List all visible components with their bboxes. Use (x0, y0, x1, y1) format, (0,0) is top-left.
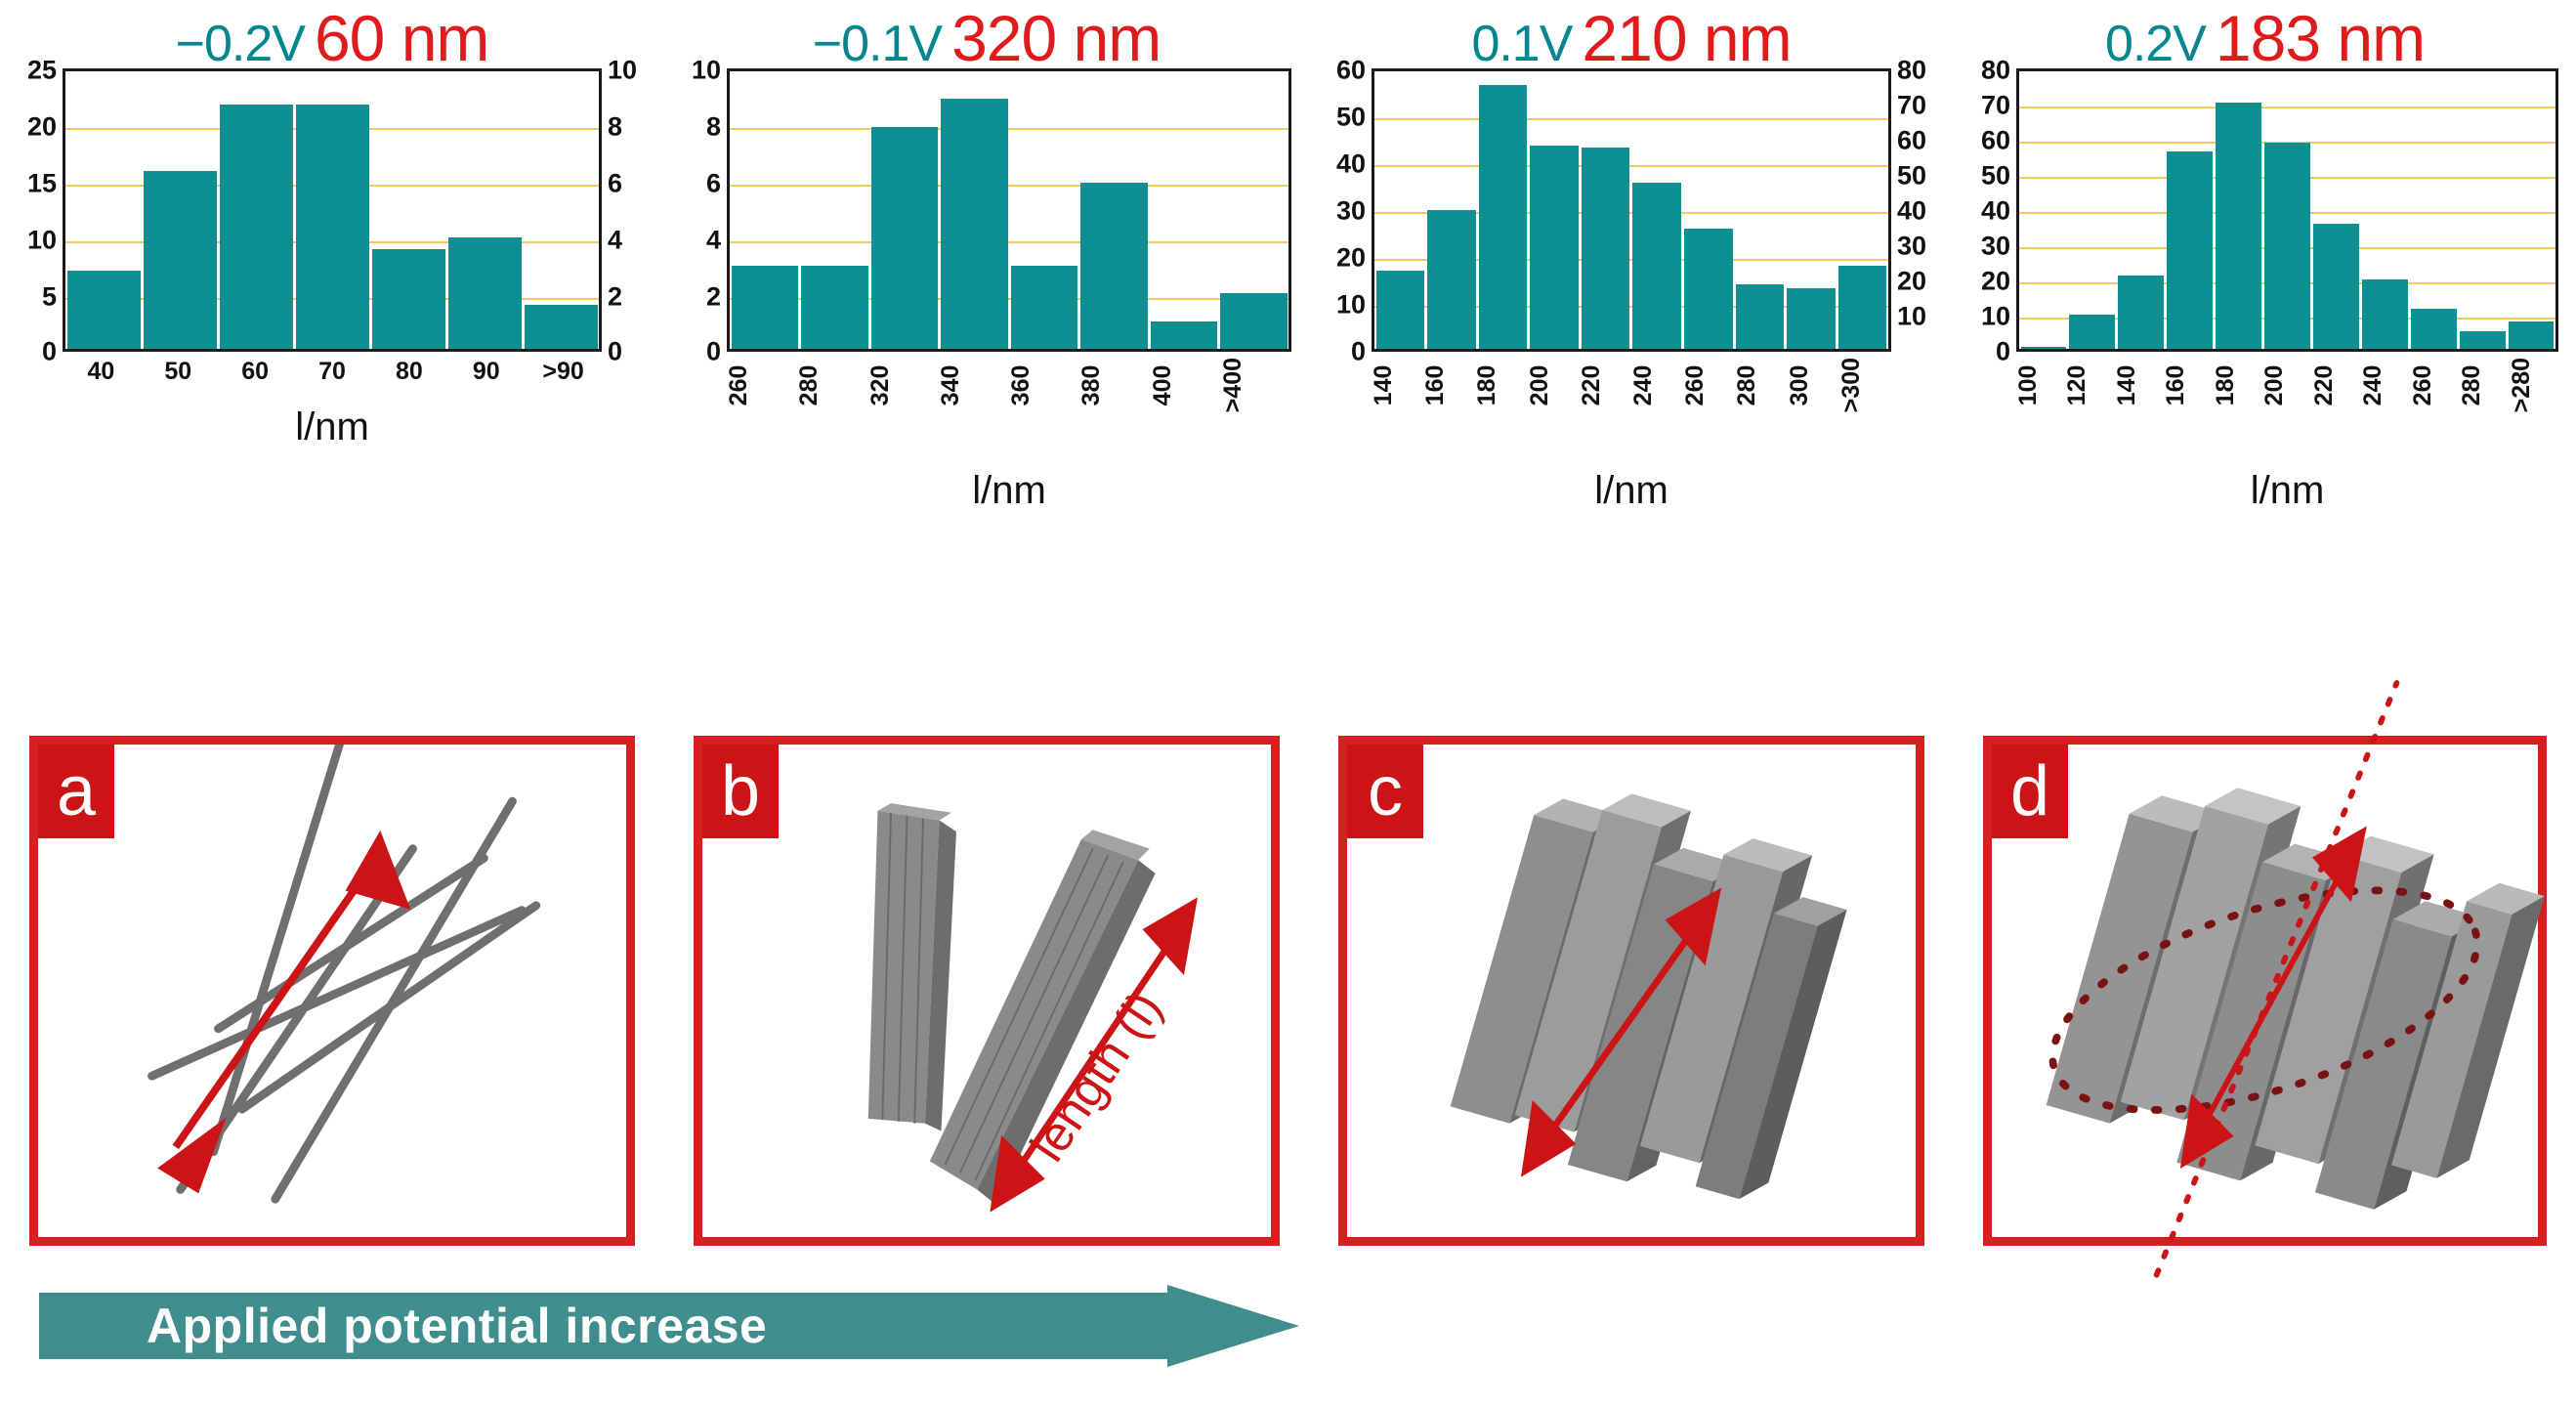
axis-tick: 80 (1897, 58, 1926, 84)
x-tick-label: 260 (2411, 358, 2460, 412)
chart-1-right-axis: 10 8 6 4 2 0 (602, 68, 664, 352)
chart-4-bars (2019, 71, 2555, 349)
x-tick-label: 360 (1009, 358, 1079, 412)
histogram-bar (2216, 103, 2261, 349)
axis-tick: 50 (1981, 163, 2010, 190)
histogram-bar (1530, 146, 1579, 349)
chart-1-bars (65, 71, 599, 349)
chart-2-size-label: 320 nm (951, 2, 1161, 74)
axis-tick: 0 (608, 339, 622, 365)
histogram-bar (2118, 276, 2164, 349)
x-tick-label: 140 (1372, 358, 1423, 412)
chart-2-xlabels: 260280320340360380400>400 (727, 358, 1291, 412)
rod-left (868, 803, 956, 1130)
x-tick-label: 220 (2312, 358, 2361, 412)
histogram-bar (1376, 271, 1425, 349)
banner-label: Applied potential increase (147, 1285, 767, 1367)
x-tick-label: 160 (2164, 358, 2213, 412)
axis-tick: 4 (608, 228, 622, 254)
histogram-bar (144, 171, 217, 349)
histogram-bar (372, 249, 445, 349)
x-tick-label: 260 (1683, 358, 1735, 412)
schematic-panel-b: b (664, 728, 1309, 1275)
chart-3-bars (1374, 71, 1888, 349)
histogram-panel-1: −0.2V60 nm 25 20 15 10 5 0 10 8 6 4 2 0 (0, 0, 664, 723)
axis-tick: 40 (1981, 198, 2010, 225)
histogram-bar (2313, 224, 2359, 349)
x-tick-label: 280 (1735, 358, 1787, 412)
x-tick-label: 400 (1151, 358, 1221, 412)
histogram-bar (2509, 321, 2555, 349)
axis-tick: 0 (1351, 339, 1366, 365)
panel-b-tag: b (702, 745, 779, 838)
histogram-bar (1684, 229, 1733, 349)
panel-a-tag: a (38, 745, 114, 838)
histogram-bar (1838, 266, 1887, 349)
chart-3-title: 0.1V210 nm (1309, 6, 1954, 70)
chart-1-title: −0.2V60 nm (0, 6, 664, 70)
bundle-illustration (1347, 745, 1916, 1237)
histogram-panel-3: 0.1V210 nm 60 50 40 30 20 10 0 80 70 60 … (1309, 0, 1954, 723)
histogram-bar (2021, 347, 2067, 349)
chart-3-right-axis: 80 70 60 50 40 30 20 10 (1891, 68, 1954, 352)
schematic-panel-a: a (0, 728, 664, 1275)
x-tick-label: 70 (294, 358, 371, 386)
histogram-bar (67, 271, 141, 349)
histogram-bar (296, 105, 369, 349)
schematic-panel-c: c (1309, 728, 1954, 1275)
x-tick-label: 80 (370, 358, 447, 386)
chart-3-xlabels: 140160180200220240260280300>300 (1372, 358, 1891, 412)
x-tick-label: 200 (1528, 358, 1580, 412)
histogram-bar (801, 266, 868, 349)
axis-tick: 2 (608, 284, 622, 311)
x-tick-label: 50 (140, 358, 217, 386)
chart-4-voltage-label: 0.2V (2105, 16, 2206, 72)
axis-tick: 30 (1336, 198, 1366, 225)
axis-tick: 25 (27, 58, 57, 84)
histogram-bar (1582, 148, 1630, 349)
x-tick-label: 40 (63, 358, 140, 386)
axis-tick: 80 (1981, 58, 2010, 84)
chart-1-left-axis: 25 20 15 10 5 0 (0, 68, 63, 352)
x-tick-label: 240 (2361, 358, 2410, 412)
panel-a-box: a (29, 736, 635, 1246)
x-tick-label: 340 (939, 358, 1009, 412)
x-tick-label: 60 (217, 358, 294, 386)
chart-1-voltage-label: −0.2V (176, 16, 305, 72)
axis-tick: 0 (706, 339, 721, 365)
x-tick-label: >90 (525, 358, 602, 386)
panel-b-box: b (694, 736, 1280, 1246)
x-tick-label: >400 (1221, 358, 1291, 412)
histogram-bar (2069, 315, 2115, 350)
histogram-bar (1787, 288, 1836, 349)
histogram-panel-2: −0.1V320 nm 10 8 6 4 2 0 26 (664, 0, 1309, 723)
axis-tick: 0 (1996, 339, 2010, 365)
axis-tick: 40 (1897, 198, 1926, 225)
chart-4-left-axis: 80 70 60 50 40 30 20 10 0 (1954, 68, 2016, 352)
x-tick-label: 160 (1423, 358, 1475, 412)
axis-tick: 20 (1336, 245, 1366, 272)
axis-tick: 50 (1897, 163, 1926, 190)
x-tick-label: 280 (2460, 358, 2509, 412)
axis-tick: 30 (1981, 234, 2010, 260)
axis-tick: 10 (27, 228, 57, 254)
nanorods-illustration: length (l) (702, 745, 1271, 1237)
x-tick-label: 240 (1631, 358, 1683, 412)
chart-2-title: −0.1V320 nm (664, 6, 1309, 70)
x-tick-label: 320 (868, 358, 939, 412)
histogram-bar (525, 305, 598, 349)
axis-tick: 6 (608, 171, 622, 197)
axis-tick: 30 (1897, 234, 1926, 260)
axis-tick: 15 (27, 171, 57, 197)
histogram-bar (2264, 143, 2310, 349)
chart-1-xlabels: 405060708090>90 (63, 358, 602, 386)
histogram-bar (1632, 183, 1681, 349)
axis-tick: 20 (27, 114, 57, 141)
chart-2-bars (730, 71, 1288, 349)
chart-3-size-label: 210 nm (1582, 2, 1791, 74)
axis-tick: 20 (1981, 269, 2010, 295)
figure-root: −0.2V60 nm 25 20 15 10 5 0 10 8 6 4 2 0 (0, 0, 2576, 1407)
histogram-bar (1151, 321, 1218, 349)
chart-3-plot-area (1372, 68, 1891, 352)
chart-3-xaxis-title: l/nm (1372, 469, 1891, 513)
axis-tick: 70 (1897, 93, 1926, 119)
histogram-bar (1427, 210, 1476, 349)
axis-tick: 0 (42, 339, 57, 365)
histogram-bar (871, 127, 939, 349)
x-tick-label: >300 (1839, 358, 1891, 412)
schematic-panel-d: d (1954, 728, 2576, 1275)
x-tick-label: 300 (1788, 358, 1839, 412)
chart-4-title: 0.2V183 nm (1954, 6, 2576, 70)
x-tick-label: >280 (2510, 358, 2558, 412)
histogram-bar (732, 266, 799, 349)
histogram-bar (2460, 331, 2506, 349)
chart-2-plot-area (727, 68, 1291, 352)
x-tick-label: 280 (797, 358, 867, 412)
panel-c-tag: c (1347, 745, 1423, 838)
x-tick-label: 380 (1079, 358, 1150, 412)
panel-d-tag: d (1992, 745, 2068, 838)
chart-3-left-axis: 60 50 40 30 20 10 0 (1309, 68, 1372, 352)
panel-c-box: c (1338, 736, 1924, 1246)
axis-tick: 8 (706, 114, 721, 141)
axis-tick: 60 (1336, 58, 1366, 84)
chart-1-plot-area (63, 68, 602, 352)
axis-tick: 40 (1336, 151, 1366, 178)
histogram-bar (1736, 284, 1785, 349)
chart-1-xaxis-title: l/nm (63, 405, 602, 449)
chart-4-size-label: 183 nm (2216, 2, 2425, 74)
chart-4-xlabels: 100120140160180200220240260280>280 (2016, 358, 2558, 412)
x-tick-label: 260 (727, 358, 797, 412)
histogram-bar (1220, 293, 1288, 349)
axis-tick: 8 (608, 114, 622, 141)
panel-d-box: d (1983, 736, 2547, 1246)
histogram-bar (941, 99, 1008, 349)
axis-tick: 4 (706, 228, 721, 254)
axis-tick: 5 (42, 284, 57, 311)
histogram-bar (2362, 279, 2408, 349)
histogram-row: −0.2V60 nm 25 20 15 10 5 0 10 8 6 4 2 0 (0, 0, 2576, 723)
axis-tick: 10 (1336, 292, 1366, 319)
axis-tick: 70 (1981, 93, 2010, 119)
axis-tick: 10 (692, 58, 721, 84)
bundle-blocks (1444, 770, 1861, 1219)
chart-4-plot-area (2016, 68, 2558, 352)
histogram-bar (448, 237, 522, 349)
histogram-panel-4: 0.2V183 nm 80 70 60 50 40 30 20 10 0 (1954, 0, 2576, 723)
histogram-bar (1011, 266, 1078, 349)
x-tick-label: 90 (447, 358, 525, 386)
axis-tick: 60 (1897, 128, 1926, 154)
axis-tick: 2 (706, 284, 721, 311)
nanowires-illustration (38, 745, 626, 1237)
axis-tick: 60 (1981, 128, 2010, 154)
axis-tick: 50 (1336, 105, 1366, 131)
histogram-bar (220, 105, 293, 349)
x-tick-label: 200 (2262, 358, 2311, 412)
x-tick-label: 180 (2214, 358, 2262, 412)
chart-2-left-axis: 10 8 6 4 2 0 (664, 68, 727, 352)
histogram-bar (2167, 151, 2213, 349)
axis-tick: 20 (1897, 269, 1926, 295)
chart-4-xaxis-title: l/nm (2016, 469, 2558, 513)
axis-tick: 10 (1981, 304, 2010, 330)
x-tick-label: 140 (2115, 358, 2164, 412)
chart-2-voltage-label: −0.1V (813, 16, 942, 72)
chart-3-voltage-label: 0.1V (1471, 16, 1572, 72)
axis-tick: 10 (1897, 304, 1926, 330)
histogram-bar (2411, 309, 2457, 349)
bundle-blocks (2041, 761, 2550, 1240)
x-tick-label: 120 (2065, 358, 2114, 412)
chart-2-xaxis-title: l/nm (727, 469, 1291, 513)
x-tick-label: 220 (1580, 358, 1631, 412)
axis-tick: 6 (706, 171, 721, 197)
axis-tick: 10 (608, 58, 637, 84)
histogram-bar (1479, 85, 1528, 349)
histogram-bar (1080, 183, 1148, 349)
x-tick-label: 100 (2016, 358, 2065, 412)
applied-potential-banner: Applied potential increase (39, 1285, 1299, 1367)
rotating-bundle-illustration (1992, 745, 2538, 1237)
chart-1-size-label: 60 nm (315, 2, 488, 74)
x-tick-label: 180 (1475, 358, 1527, 412)
schematic-row: a (0, 728, 2576, 1275)
